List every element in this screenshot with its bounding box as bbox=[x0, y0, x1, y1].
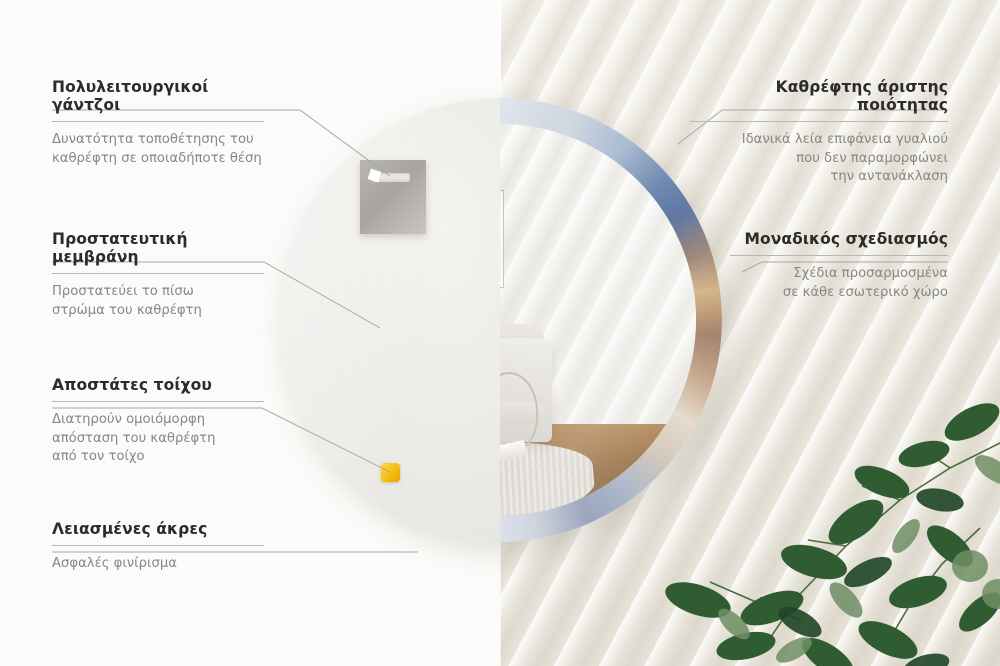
callout-hooks-description: Δυνατότητα τοποθέτησης του καθρέφτη σε ο… bbox=[52, 131, 264, 168]
callout-hooks-desc-line1: Δυνατότητα τοποθέτησης του bbox=[52, 132, 254, 147]
callout-hooks-title: Πολυλειτουργικοί γάντζοι bbox=[52, 78, 264, 114]
callout-edges: Λειασμένες άκρες Ασφαλές φινίρισμα bbox=[52, 520, 264, 574]
callout-membrane-description: Προστατεύει το πίσω στρώμα του καθρέφτη bbox=[52, 283, 264, 320]
callout-spacers-rule bbox=[52, 401, 264, 402]
infographic-canvas: Πολυλειτουργικοί γάντζοι Δυνατότητα τοπο… bbox=[0, 0, 1000, 666]
callout-spacers: Αποστάτες τοίχου Διατηρούν ομοιόμορφη απ… bbox=[52, 376, 264, 467]
callout-membrane-rule bbox=[52, 273, 264, 274]
callout-quality-title: Καθρέφτης άριστης ποιότητας bbox=[690, 78, 948, 114]
callout-design-description: Σχέδια προσαρμοσμένα σε κάθε εσωτερικό χ… bbox=[730, 265, 948, 302]
callout-quality: Καθρέφτης άριστης ποιότητας Ιδανικά λεία… bbox=[690, 78, 948, 187]
callout-spacers-desc-line1: Διατηρούν ομοιόμορφη bbox=[52, 412, 205, 427]
callout-quality-desc-line2: που δεν παραμορφώνει bbox=[796, 151, 948, 166]
callout-edges-title: Λειασμένες άκρες bbox=[52, 520, 264, 538]
callout-hooks-rule bbox=[52, 121, 264, 122]
callout-membrane-desc-line2: στρώμα του καθρέφτη bbox=[52, 303, 202, 318]
foliage-decoration bbox=[650, 350, 1000, 666]
callout-design-rule bbox=[730, 255, 948, 256]
callout-quality-description: Ιδανικά λεία επιφάνεια γυαλιού που δεν π… bbox=[690, 131, 948, 187]
callout-edges-rule bbox=[52, 545, 264, 546]
callout-quality-rule bbox=[690, 121, 948, 122]
callout-edges-desc-line1: Ασφαλές φινίρισμα bbox=[52, 556, 177, 571]
callout-quality-desc-line3: την αντανάκλαση bbox=[830, 169, 948, 184]
reflected-line-art-poster bbox=[500, 190, 504, 288]
hook-plate bbox=[360, 160, 426, 234]
callout-design-title: Μοναδικός σχεδιασμός bbox=[730, 230, 948, 248]
callout-hooks-desc-line2: καθρέφτη σε οποιαδήποτε θέση bbox=[52, 151, 262, 166]
callout-design: Μοναδικός σχεδιασμός Σχέδια προσαρμοσμέν… bbox=[730, 230, 948, 302]
callout-spacers-desc-line3: από τον τοίχο bbox=[52, 449, 145, 464]
callout-spacers-title: Αποστάτες τοίχου bbox=[52, 376, 264, 394]
callout-spacers-desc-line2: απόσταση του καθρέφτη bbox=[52, 431, 215, 446]
callout-membrane: Προστατευτική μεμβράνη Προστατεύει το πί… bbox=[52, 230, 264, 320]
callout-membrane-title: Προστατευτική μεμβράνη bbox=[52, 230, 264, 266]
callout-quality-desc-line1: Ιδανικά λεία επιφάνεια γυαλιού bbox=[742, 132, 948, 147]
hook-slot-icon bbox=[372, 173, 410, 182]
callout-design-desc-line2: σε κάθε εσωτερικό χώρο bbox=[783, 285, 948, 300]
callout-membrane-desc-line1: Προστατεύει το πίσω bbox=[52, 284, 194, 299]
callout-hooks: Πολυλειτουργικοί γάντζοι Δυνατότητα τοπο… bbox=[52, 78, 264, 168]
callout-spacers-description: Διατηρούν ομοιόμορφη απόσταση του καθρέφ… bbox=[52, 411, 264, 467]
spacer-pad bbox=[381, 463, 400, 482]
callout-edges-description: Ασφαλές φινίρισμα bbox=[52, 555, 264, 574]
callout-design-desc-line1: Σχέδια προσαρμοσμένα bbox=[793, 266, 948, 281]
